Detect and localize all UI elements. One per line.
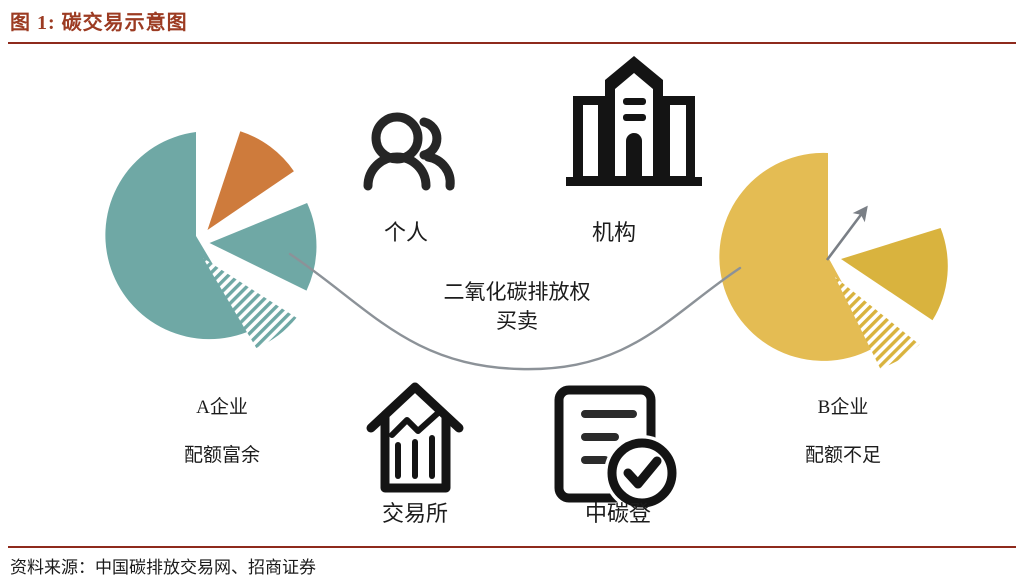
exchange-house-icon — [371, 387, 459, 488]
label-company-a-name: A企业 — [112, 392, 332, 419]
flow-label-line2: 买卖 — [407, 307, 627, 335]
pie-chart-company-a — [105, 131, 316, 348]
label-individual: 个人 — [296, 215, 516, 247]
title-divider — [8, 42, 1016, 44]
pie-chart-company-b — [719, 153, 947, 369]
growth-arrow-b — [827, 208, 866, 260]
source-note: 资料来源：中国碳排放交易网、招商证券 — [10, 553, 316, 578]
footer-divider — [8, 546, 1016, 548]
page-title: 图 1: 碳交易示意图 — [10, 6, 188, 35]
figure-container: 图 1: 碳交易示意图 — [0, 0, 1024, 585]
building-icon — [560, 46, 702, 186]
label-exchange: 交易所 — [305, 496, 525, 528]
document-check-icon — [559, 390, 680, 511]
label-institution: 机构 — [504, 215, 724, 247]
label-company-b-name: B企业 — [733, 392, 953, 419]
figure-title-bar: 图 1: 碳交易示意图 — [0, 0, 1024, 46]
label-registry: 中碳登 — [508, 496, 728, 528]
label-company-b-status: 配额不足 — [733, 440, 953, 467]
label-company-a-status: 配额富余 — [112, 440, 332, 467]
people-icon — [368, 117, 450, 186]
flow-label-line1: 二氧化碳排放权 — [407, 278, 627, 306]
